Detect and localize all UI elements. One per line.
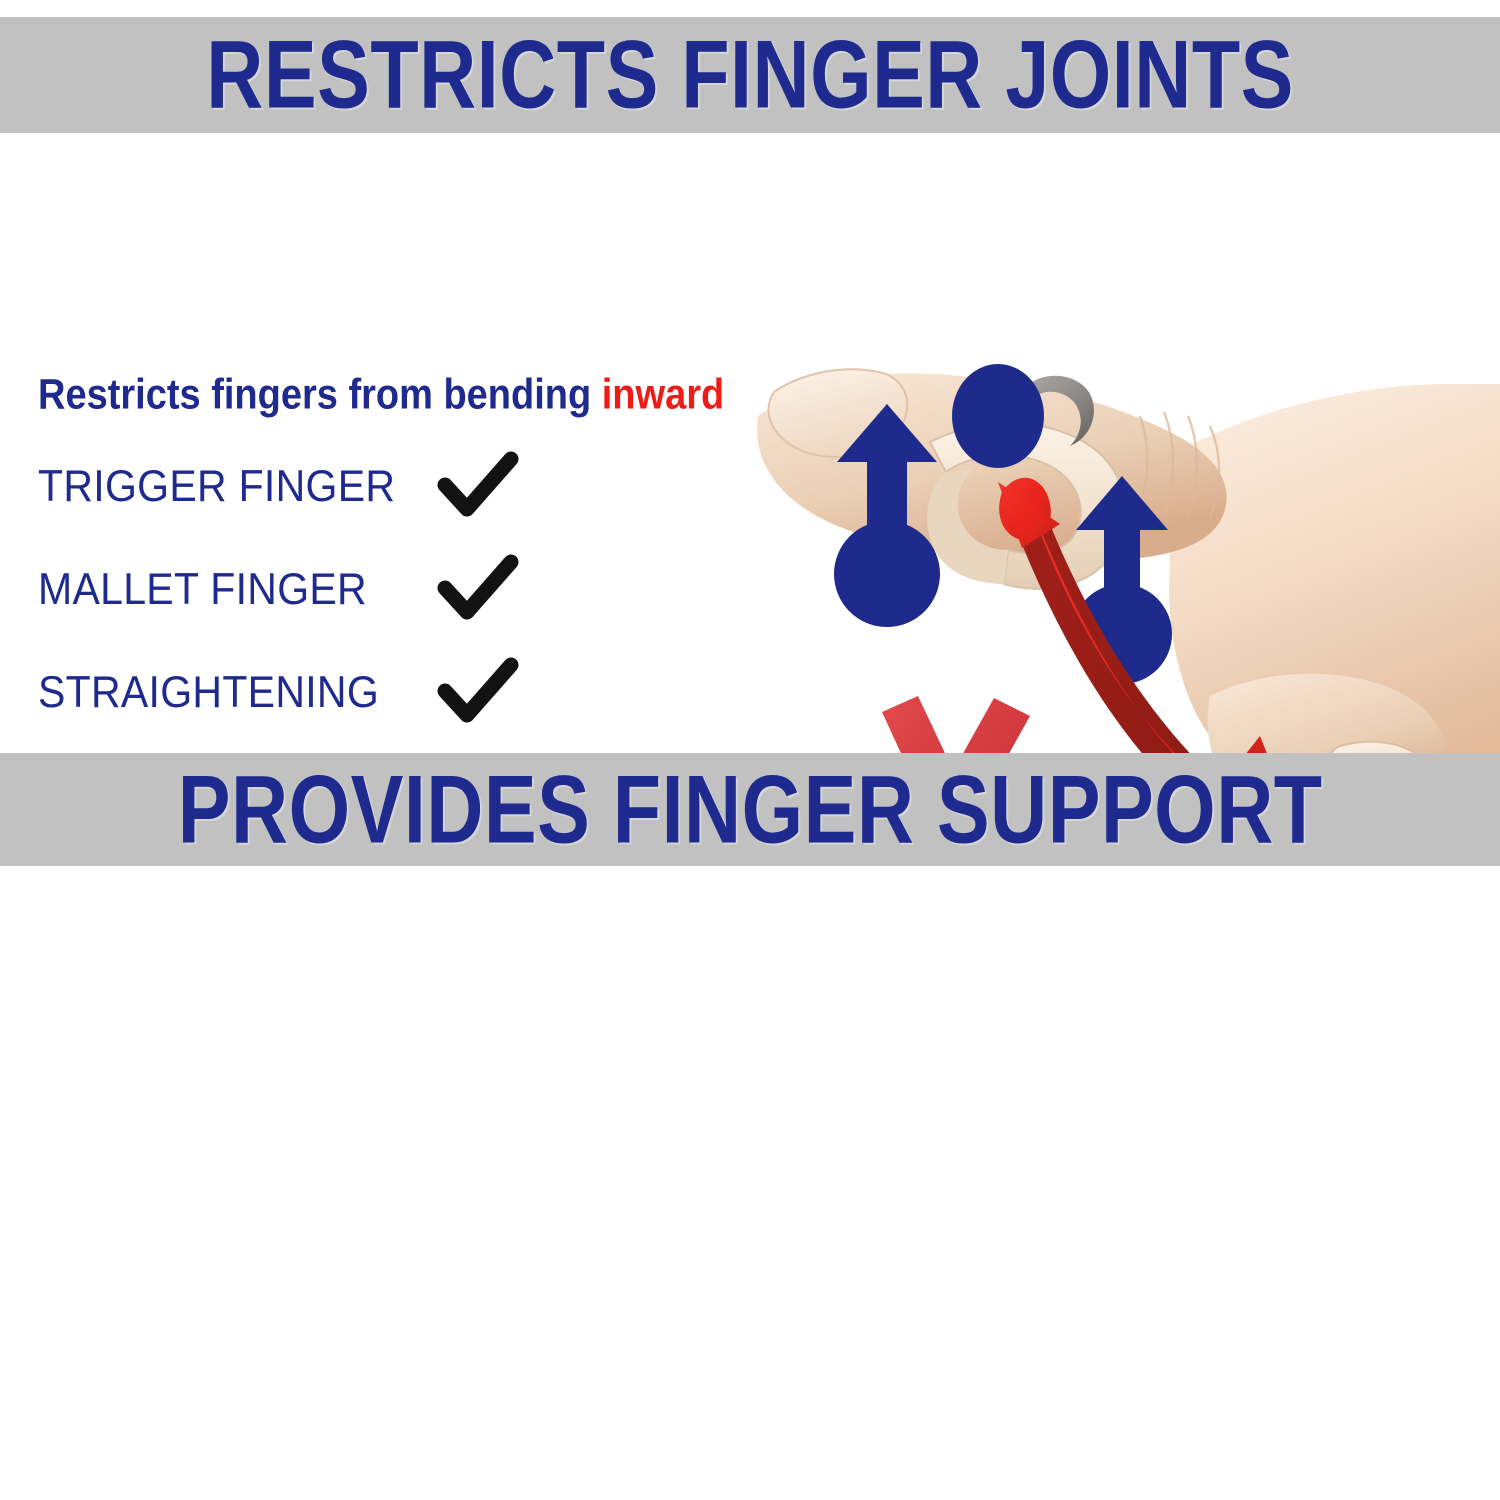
splint-top-dot-marker bbox=[952, 364, 1044, 468]
red-x-mark-top bbox=[882, 696, 1030, 753]
check-icon bbox=[435, 451, 521, 521]
banner-restricts-finger-joints: RESTRICTS FINGER JOINTS bbox=[0, 17, 1500, 133]
checklist-inward: TRIGGER FINGER MALLET FINGER STRAIGHTENI… bbox=[38, 451, 521, 753]
section-restricts-outward: Restricts fingers from bending outward F… bbox=[0, 866, 1500, 1500]
banner-top-title: RESTRICTS FINGER JOINTS bbox=[206, 27, 1294, 123]
headline-inward: Restricts fingers from bending inward bbox=[38, 374, 724, 417]
infographic-page: RESTRICTS FINGER JOINTS bbox=[0, 0, 1500, 1500]
list-item: MALLET FINGER bbox=[38, 554, 521, 624]
list-item: STRAIGHTENING bbox=[38, 657, 521, 727]
photo-hand-finger-splint-inward bbox=[740, 266, 1500, 753]
list-item-label: TRIGGER FINGER bbox=[38, 464, 413, 508]
headline-top-emphasis: inward bbox=[602, 371, 724, 418]
list-item: TRIGGER FINGER bbox=[38, 451, 521, 521]
check-icon bbox=[435, 554, 521, 624]
banner-bottom-title: PROVIDES FINGER SUPPORT bbox=[178, 761, 1323, 857]
hand-illustration-top bbox=[740, 266, 1500, 753]
headline-top-prefix: Restricts fingers from bending bbox=[38, 371, 602, 418]
list-item-label: STRAIGHTENING bbox=[38, 670, 413, 714]
check-icon bbox=[435, 657, 521, 727]
list-item-label: MALLET FINGER bbox=[38, 567, 413, 611]
section-restricts-inward: Restricts fingers from bending inward TR… bbox=[0, 133, 1500, 753]
banner-provides-finger-support: PROVIDES FINGER SUPPORT bbox=[0, 753, 1500, 866]
